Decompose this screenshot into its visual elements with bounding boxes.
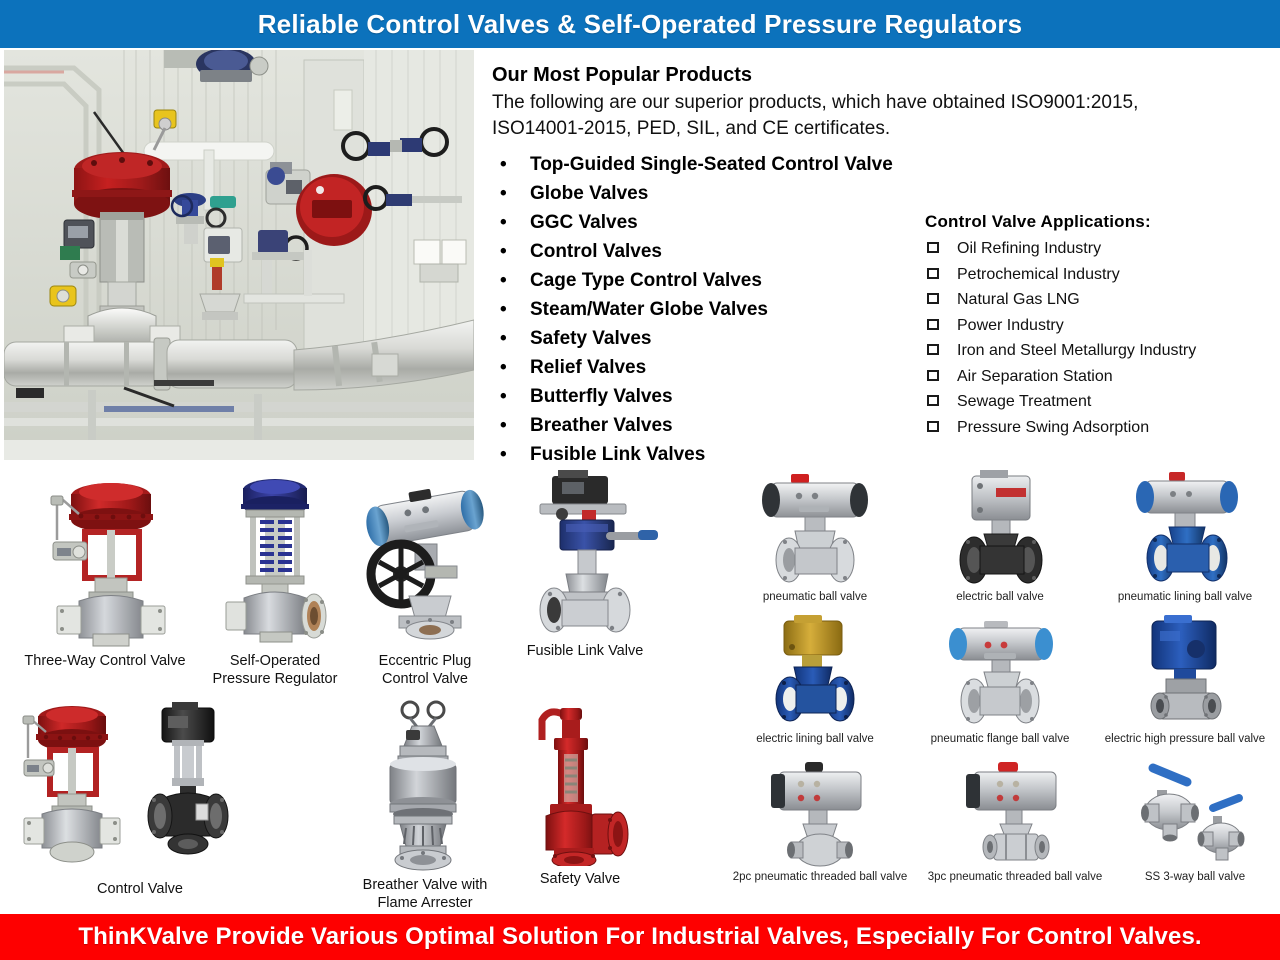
- applications-list: Oil Refining Industry Petrochemical Indu…: [925, 236, 1275, 440]
- checkbox-icon[interactable]: [927, 293, 939, 304]
- product-card-electric-ball-valve[interactable]: electric ball valve: [910, 470, 1090, 604]
- product-caption: electric high pressure ball valve: [1090, 732, 1280, 746]
- product-caption: Control Valve: [20, 880, 260, 898]
- applications-heading: Control Valve Applications:: [925, 210, 1275, 234]
- bullet-icon: •: [500, 237, 507, 266]
- product-caption: pneumatic lining ball valve: [1090, 590, 1280, 604]
- bullet-icon: •: [500, 266, 507, 295]
- list-item[interactable]: •Relief Valves: [492, 353, 932, 382]
- bullet-icon: •: [500, 208, 507, 237]
- product-caption-line2: Flame Arrester: [350, 894, 500, 912]
- page-header-banner: Reliable Control Valves & Self-Operated …: [0, 0, 1280, 48]
- checkbox-icon[interactable]: [927, 344, 939, 355]
- product-label: Safety Valves: [530, 328, 651, 349]
- product-image-breather-valve: [350, 700, 500, 872]
- application-label: Sewage Treatment: [957, 393, 1091, 410]
- bullet-icon: •: [500, 150, 507, 179]
- product-card-three-way-control-valve[interactable]: Three-Way Control Valve: [20, 470, 190, 670]
- product-label: Cage Type Control Valves: [530, 270, 762, 291]
- list-item[interactable]: •Control Valves: [492, 237, 932, 266]
- application-label: Pressure Swing Adsorption: [957, 419, 1149, 436]
- product-caption: Fusible Link Valve: [500, 642, 670, 660]
- product-caption: SS 3-way ball valve: [1110, 870, 1280, 884]
- application-label: Power Industry: [957, 317, 1064, 334]
- product-card-pneumatic-flange-ball-valve[interactable]: pneumatic flange ball valve: [910, 615, 1090, 746]
- application-label: Air Separation Station: [957, 368, 1113, 385]
- list-item[interactable]: Natural Gas LNG: [925, 287, 1275, 313]
- list-item[interactable]: •GGC Valves: [492, 208, 932, 237]
- product-card-pneumatic-lining-ball-valve[interactable]: pneumatic lining ball valve: [1090, 470, 1280, 604]
- product-card-control-valve[interactable]: Control Valve: [20, 700, 260, 898]
- product-image-pneumatic-flange-ball-valve: [910, 615, 1090, 730]
- product-caption-line2: Control Valve: [350, 670, 500, 688]
- product-image-fusible-link-valve: [500, 470, 670, 638]
- application-label: Oil Refining Industry: [957, 240, 1101, 257]
- product-card-electric-lining-ball-valve[interactable]: electric lining ball valve: [720, 615, 910, 746]
- product-card-breather-valve-flame-arrester[interactable]: Breather Valve with Flame Arrester: [350, 700, 500, 912]
- product-card-fusible-link-valve[interactable]: Fusible Link Valve: [500, 470, 670, 660]
- product-image-electric-lining-ball-valve: [720, 615, 910, 730]
- product-image-three-way-control-valve: [20, 470, 190, 648]
- application-label: Natural Gas LNG: [957, 291, 1080, 308]
- product-card-2pc-pneumatic-threaded-ball-valve[interactable]: 2pc pneumatic threaded ball valve: [720, 760, 920, 884]
- product-card-3pc-pneumatic-threaded-ball-valve[interactable]: 3pc pneumatic threaded ball valve: [920, 760, 1110, 884]
- product-card-eccentric-plug-control-valve[interactable]: Eccentric Plug Control Valve: [350, 470, 500, 688]
- product-label: Relief Valves: [530, 357, 646, 378]
- checkbox-icon[interactable]: [927, 242, 939, 253]
- footer-banner: ThinKValve Provide Various Optimal Solut…: [0, 914, 1280, 960]
- checkbox-icon[interactable]: [927, 268, 939, 279]
- product-caption: Three-Way Control Valve: [20, 652, 190, 670]
- product-gallery-left: Three-Way Control Valve: [0, 470, 700, 915]
- product-caption: 2pc pneumatic threaded ball valve: [720, 870, 920, 884]
- checkbox-icon[interactable]: [927, 319, 939, 330]
- product-label: Fusible Link Valves: [530, 444, 705, 465]
- product-caption: Eccentric Plug: [350, 652, 500, 670]
- list-item[interactable]: •Cage Type Control Valves: [492, 266, 932, 295]
- list-item[interactable]: •Fusible Link Valves: [492, 440, 932, 469]
- checkbox-icon[interactable]: [927, 395, 939, 406]
- product-image-eccentric-plug-control-valve: [350, 470, 500, 648]
- application-label: Iron and Steel Metallurgy Industry: [957, 342, 1196, 359]
- intro-line-1: The following are our superior products,…: [492, 90, 1272, 116]
- list-item[interactable]: Sewage Treatment: [925, 389, 1275, 415]
- popular-products-list: •Top-Guided Single-Seated Control Valve …: [492, 150, 932, 469]
- intro-text-block: Our Most Popular Products The following …: [492, 62, 1272, 142]
- bullet-icon: •: [500, 324, 507, 353]
- product-image-ss-3way-ball-valve: [1110, 760, 1280, 868]
- product-caption: 3pc pneumatic threaded ball valve: [920, 870, 1110, 884]
- product-caption: pneumatic ball valve: [720, 590, 910, 604]
- product-image-electric-high-pressure-ball-valve: [1090, 615, 1280, 730]
- list-item[interactable]: Air Separation Station: [925, 364, 1275, 390]
- bullet-icon: •: [500, 353, 507, 382]
- list-item[interactable]: Iron and Steel Metallurgy Industry: [925, 338, 1275, 364]
- list-item[interactable]: •Butterfly Valves: [492, 382, 932, 411]
- bullet-icon: •: [500, 440, 507, 469]
- bullet-icon: •: [500, 295, 507, 324]
- product-gallery-right: pneumatic ball valve electric ball valve: [700, 470, 1280, 915]
- list-item[interactable]: Petrochemical Industry: [925, 262, 1275, 288]
- product-caption: Safety Valve: [500, 870, 660, 888]
- product-caption: electric lining ball valve: [720, 732, 910, 746]
- product-image-pneumatic-lining-ball-valve: [1090, 470, 1280, 588]
- product-image-self-operated-pressure-regulator: [200, 470, 350, 648]
- bullet-icon: •: [500, 411, 507, 440]
- product-image-electric-ball-valve: [910, 470, 1090, 588]
- product-label: Steam/Water Globe Valves: [530, 299, 768, 320]
- list-item[interactable]: •Safety Valves: [492, 324, 932, 353]
- bullet-icon: •: [500, 179, 507, 208]
- product-image-safety-valve: [500, 700, 660, 866]
- checkbox-icon[interactable]: [927, 370, 939, 381]
- product-image-pneumatic-ball-valve: [720, 470, 910, 588]
- product-label: GGC Valves: [530, 212, 638, 233]
- product-image-control-valve-pair: [20, 700, 260, 872]
- product-card-safety-valve[interactable]: Safety Valve: [500, 700, 660, 888]
- application-label: Petrochemical Industry: [957, 266, 1120, 283]
- footer-slogan: ThinKValve Provide Various Optimal Solut…: [78, 923, 1201, 951]
- list-item[interactable]: •Steam/Water Globe Valves: [492, 295, 932, 324]
- product-caption: pneumatic flange ball valve: [910, 732, 1090, 746]
- product-label: Top-Guided Single-Seated Control Valve: [530, 154, 893, 175]
- product-label: Control Valves: [530, 241, 662, 262]
- product-label: Butterfly Valves: [530, 386, 673, 407]
- product-caption-line2: Pressure Regulator: [200, 670, 350, 688]
- control-valve-applications-panel: Control Valve Applications: Oil Refining…: [925, 210, 1275, 440]
- hero-photo-industrial-plant: [4, 50, 474, 460]
- list-item[interactable]: Oil Refining Industry: [925, 236, 1275, 262]
- intro-line-2: ISO14001-2015, PED, SIL, and CE certific…: [492, 116, 1272, 142]
- product-caption: Breather Valve with: [350, 876, 500, 894]
- product-card-self-operated-pressure-regulator[interactable]: Self-Operated Pressure Regulator: [200, 470, 350, 688]
- product-image-3pc-pneumatic-threaded-ball-valve: [920, 760, 1110, 868]
- list-item[interactable]: Pressure Swing Adsorption: [925, 415, 1275, 441]
- product-label: Breather Valves: [530, 415, 673, 436]
- checkbox-icon[interactable]: [927, 421, 939, 432]
- product-image-2pc-pneumatic-threaded-ball-valve: [720, 760, 920, 868]
- list-item[interactable]: •Globe Valves: [492, 179, 932, 208]
- list-item[interactable]: •Breather Valves: [492, 411, 932, 440]
- product-card-electric-high-pressure-ball-valve[interactable]: electric high pressure ball valve: [1090, 615, 1280, 746]
- bullet-icon: •: [500, 382, 507, 411]
- list-item[interactable]: Power Industry: [925, 313, 1275, 339]
- product-label: Globe Valves: [530, 183, 648, 204]
- product-card-pneumatic-ball-valve[interactable]: pneumatic ball valve: [720, 470, 910, 604]
- product-caption: electric ball valve: [910, 590, 1090, 604]
- intro-heading: Our Most Popular Products: [492, 62, 1272, 88]
- product-caption: Self-Operated: [200, 652, 350, 670]
- list-item[interactable]: •Top-Guided Single-Seated Control Valve: [492, 150, 932, 179]
- hero-illustration: [4, 50, 474, 460]
- product-card-ss-3way-ball-valve[interactable]: SS 3-way ball valve: [1110, 760, 1280, 884]
- page-title: Reliable Control Valves & Self-Operated …: [258, 9, 1023, 40]
